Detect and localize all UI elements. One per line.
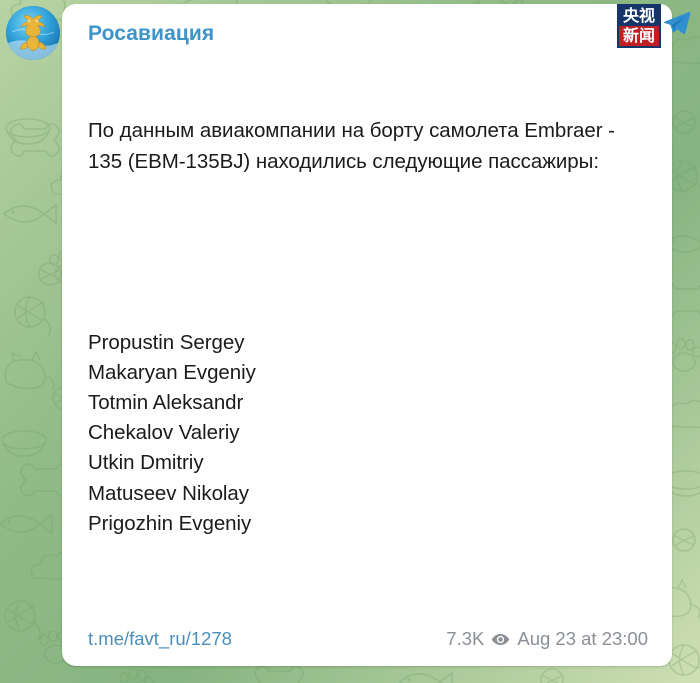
view-count: 7.3K bbox=[446, 628, 484, 650]
passenger-list: Propustin Sergey Makaryan Evgeniy Totmin… bbox=[88, 328, 648, 539]
cctv-logo: 央视 新闻 bbox=[617, 4, 661, 48]
message-permalink[interactable]: t.me/favt_ru/1278 bbox=[88, 628, 232, 650]
message-meta: 7.3K Aug 23 at 23:00 bbox=[446, 628, 648, 650]
paragraph-spacer bbox=[88, 237, 648, 267]
cctv-news-watermark: 央视 新闻 bbox=[617, 4, 692, 48]
message-bubble[interactable]: Росавиация По данным авиакомпании на бор… bbox=[62, 4, 672, 666]
paragraph-intro: По данным авиакомпании на борту самолета… bbox=[88, 116, 648, 176]
avatar[interactable] bbox=[6, 6, 60, 60]
paragraph-spacer bbox=[88, 599, 648, 629]
rosaviatsiya-emblem-icon bbox=[6, 6, 60, 60]
cctv-logo-top: 央视 bbox=[619, 6, 659, 26]
telegram-plane-icon bbox=[662, 8, 692, 38]
eye-icon bbox=[491, 630, 510, 649]
message-text: По данным авиакомпании на борту самолета… bbox=[88, 56, 648, 666]
telegram-message-screenshot: 央视 新闻 Росавиация По данным авиакомпании … bbox=[0, 0, 700, 683]
message-footer: t.me/favt_ru/1278 7.3K Aug 23 at 23:00 bbox=[88, 628, 648, 650]
cctv-logo-bottom: 新闻 bbox=[619, 26, 659, 46]
channel-name[interactable]: Росавиация bbox=[88, 22, 648, 46]
message-timestamp: Aug 23 at 23:00 bbox=[517, 628, 648, 650]
